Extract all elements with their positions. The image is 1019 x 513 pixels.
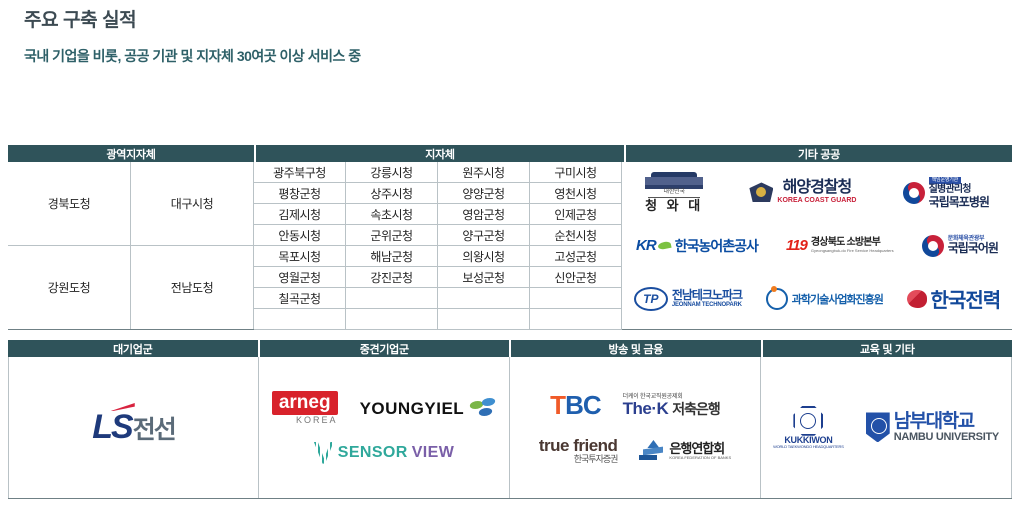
coast-guard-sublabel: KOREA COAST GUARD	[777, 197, 856, 204]
public-sector-table-header: 광역지자체 지자체 기타 공공	[8, 145, 1012, 162]
municipality-cell: 속초시청	[346, 204, 438, 225]
municipality-cell: 영천시청	[530, 183, 622, 204]
true-friend-logo: true friend 한국투자증권	[539, 437, 618, 464]
municipality-cell	[254, 309, 346, 330]
municipality-cell: 양구군청	[438, 225, 530, 246]
blue-house-roof-icon	[645, 172, 703, 185]
arneg-korea-logo: arneg KOREA	[272, 391, 338, 425]
municipality-cell: 안동시청	[254, 225, 346, 246]
logo-row: arneg KOREA YOUNGYIEL	[272, 391, 496, 425]
municipality-cell	[346, 288, 438, 309]
ls-cable-logo: LS 전선	[92, 408, 174, 447]
municipality-cell	[346, 309, 438, 330]
page-subtitle: 국내 기업을 비롯, 공공 기관 및 지자체 30여곳 이상 서비스 중	[24, 46, 361, 66]
coast-guard-label: 해양경찰청	[783, 180, 852, 197]
kepco-logo: 한국전력	[907, 284, 1001, 313]
jeonnam-tp-sublabel: JEONNAM TECHNOPARK	[672, 302, 742, 308]
logo-row: KR 한국농어촌공사 119 경상북도 소방본부 Gyeongsangbuk-d…	[622, 219, 1012, 272]
nambu-shield-icon	[866, 412, 890, 442]
logo-row: TBC 더케이 한국교직원공제회 The·K 저축은행	[550, 390, 720, 421]
municipality-cell: 상주시청	[346, 183, 438, 204]
fire-hq-sublabel: Gyeongsangbuk-do Fire Service Headquarte…	[811, 249, 894, 253]
cheongwadae-label: 청 와 대	[645, 199, 703, 213]
municipality-cell: 군위군청	[346, 225, 438, 246]
municipality-cell: 칠곡군청	[254, 288, 346, 309]
municipality-cell: 구미시청	[530, 162, 622, 183]
ls-cable-label: 전선	[133, 410, 175, 446]
municipality-cell: 강릉시청	[346, 162, 438, 183]
page-heading: 주요 구축 실적 국내 기업을 비롯, 공공 기관 및 지자체 30여곳 이상 …	[24, 8, 361, 66]
rural-corp-label: 한국농어촌공사	[675, 236, 758, 256]
municipality-cell: 광주북구청	[254, 162, 346, 183]
municipality-cell: 김제시청	[254, 204, 346, 225]
korea-coast-guard-logo: 해양경찰청 KOREA COAST GUARD	[749, 180, 856, 204]
kfb-mark-icon	[639, 440, 665, 462]
cheongwadae-logo: 대한민국 청 와 대	[645, 172, 703, 213]
youngyiel-label: YOUNGYIEL	[360, 399, 465, 419]
table-row: 강원도청 전남도청	[8, 246, 254, 330]
taegeuk-icon	[922, 235, 944, 257]
header-municipalities: 지자체	[254, 145, 624, 162]
performance-record-page: 주요 구축 실적 국내 기업을 비롯, 공공 기관 및 지자체 30여곳 이상 …	[0, 0, 1019, 513]
youngyiel-logo: YOUNGYIEL	[360, 398, 497, 420]
gyeongbuk-fire-headquarters-logo: 119 경상북도 소방본부 Gyeongsangbuk-do Fire Serv…	[786, 237, 894, 254]
korean-language-institute-label: 국립국어원	[948, 242, 998, 255]
education-other-cell: KUKKIWON WORLD TAEKWONDO HEADQUARTERS 남부…	[761, 357, 1012, 498]
the-k-sublabel: 저축은행	[672, 402, 720, 417]
logo-row: KUKKIWON WORLD TAEKWONDO HEADQUARTERS 남부…	[773, 406, 999, 450]
header-large-enterprises: 대기업군	[8, 340, 258, 357]
kr-mark-icon: KR	[636, 237, 656, 254]
tp-mark-icon: TP	[634, 287, 668, 311]
tbc-logo: TBC	[550, 390, 600, 421]
page-title: 주요 구축 실적	[24, 8, 361, 34]
true-friend-sublabel: 한국투자증권	[574, 455, 618, 464]
corporate-table-body: LS 전선 arneg KOREA YOUNGYIEL	[8, 357, 1012, 499]
broadcast-finance-cell: TBC 더케이 한국교직원공제회 The·K 저축은행 true friend …	[510, 357, 761, 498]
midsize-enterprises-cell: arneg KOREA YOUNGYIEL SENSOR VIEW	[259, 357, 510, 498]
corporate-table: 대기업군 중견기업군 방송 및 금융 교육 및 기타 LS 전선 arneg K…	[8, 340, 1012, 500]
municipalities-grid: 광주북구청 강릉시청 원주시청 구미시청 평창군청 상주시청 양양군청 영천시청…	[254, 162, 622, 329]
cheongwadae-sublabel: 대한민국	[664, 189, 685, 195]
municipality-cell: 목포시청	[254, 246, 346, 267]
youngyiel-diamonds-icon	[470, 398, 496, 420]
sensorview-label: SENSOR	[338, 444, 408, 462]
kiat-logo: 과학기술사업화진흥원	[766, 288, 883, 310]
kukkiwon-seal-icon	[793, 406, 823, 436]
header-other-public: 기타 공공	[624, 145, 1012, 162]
arneg-sublabel: KOREA	[296, 416, 338, 425]
municipality-cell: 해남군청	[346, 246, 438, 267]
public-sector-table-body: 경북도청 대구시청 강원도청 전남도청 광주북구청 강릉시청 원주시청 구미시청…	[8, 162, 1012, 330]
municipality-cell: 양양군청	[438, 183, 530, 204]
nambu-sublabel: NAMBU UNIVERSITY	[894, 432, 999, 444]
kepco-swirl-icon	[907, 290, 927, 308]
corporate-table-header: 대기업군 중견기업군 방송 및 금융 교육 및 기타	[8, 340, 1012, 357]
ls-mark: LS	[92, 408, 131, 447]
kfb-label: 은행연합회	[669, 442, 724, 456]
national-institute-korean-language-logo: 문화체육관광부 국립국어원	[922, 235, 998, 257]
municipality-cell: 영월군청	[254, 267, 346, 288]
province-cell: 전남도청	[131, 246, 254, 330]
jeonnam-tp-label: 전남테크노파크	[672, 289, 742, 302]
sensorview-sublabel: VIEW	[412, 444, 455, 462]
province-cell: 경북도청	[8, 162, 131, 246]
jeonnam-technopark-logo: TP 전남테크노파크 JEONNAM TECHNOPARK	[634, 287, 742, 311]
korea-federation-of-banks-logo: 은행연합회 KOREA FEDERATION OF BANKS	[639, 440, 731, 462]
kdca-label: 질병관리청	[929, 185, 971, 196]
large-enterprises-cell: LS 전선	[8, 357, 259, 498]
arneg-label: arneg	[272, 391, 338, 415]
kiat-circle-icon	[766, 288, 788, 310]
public-sector-table: 광역지자체 지자체 기타 공공 경북도청 대구시청 강원도청 전남도청 광주북구…	[8, 145, 1012, 331]
kdca-badge: 책임운영기관	[929, 177, 961, 184]
kiat-label: 과학기술사업화진흥원	[792, 291, 883, 307]
sensorview-logo: SENSOR VIEW	[314, 442, 454, 464]
true-friend-label: true friend	[539, 437, 618, 455]
taegeuk-icon	[903, 182, 925, 204]
header-broadcast-finance: 방송 및 금융	[509, 340, 761, 357]
header-education-other: 교육 및 기타	[761, 340, 1013, 357]
sensorview-v-icon	[314, 442, 334, 464]
table-row: 경북도청 대구시청	[8, 162, 254, 246]
municipality-cell: 의왕시청	[438, 246, 530, 267]
logo-row: true friend 한국투자증권 은행연합회 KOREA FEDERATIO…	[539, 437, 731, 464]
korea-rural-community-corp-logo: KR 한국농어촌공사	[636, 236, 758, 256]
municipality-cell	[438, 288, 530, 309]
province-cell: 대구시청	[131, 162, 254, 246]
logo-row: 대한민국 청 와 대 해양경찰청 KOREA COAST GUARD	[622, 166, 1012, 219]
provinces-column: 경북도청 대구시청 강원도청 전남도청	[8, 162, 254, 329]
kfb-sublabel: KOREA FEDERATION OF BANKS	[669, 456, 731, 460]
municipality-cell: 평창군청	[254, 183, 346, 204]
nambu-university-logo: 남부대학교 NAMBU UNIVERSITY	[866, 412, 999, 443]
municipality-cell: 순천시청	[530, 225, 622, 246]
header-provinces: 광역지자체	[8, 145, 254, 162]
municipality-cell: 영암군청	[438, 204, 530, 225]
119-mark-icon: 119	[786, 237, 807, 254]
kukkiwon-sublabel: WORLD TAEKWONDO HEADQUARTERS	[773, 445, 844, 449]
logo-row: SENSOR VIEW	[314, 442, 454, 464]
province-cell: 강원도청	[8, 246, 131, 330]
header-midsize-enterprises: 중견기업군	[258, 340, 510, 357]
the-k-savings-bank-logo: 더케이 한국교직원공제회 The·K 저축은행	[623, 394, 720, 418]
municipality-cell	[438, 309, 530, 330]
municipality-cell: 고성군청	[530, 246, 622, 267]
municipality-cell	[530, 309, 622, 330]
kr-swoosh-icon	[657, 241, 671, 251]
nambu-label: 남부대학교	[894, 412, 974, 432]
municipality-cell: 강진군청	[346, 267, 438, 288]
municipality-cell: 신안군청	[530, 267, 622, 288]
logo-row: TP 전남테크노파크 JEONNAM TECHNOPARK 과학기술사업화진흥원	[622, 272, 1012, 325]
municipality-cell: 원주시청	[438, 162, 530, 183]
kepco-label: 한국전력	[931, 284, 1001, 313]
municipality-cell: 인제군청	[530, 204, 622, 225]
municipality-cell	[530, 288, 622, 309]
municipality-cell: 보성군청	[438, 267, 530, 288]
kukkiwon-logo: KUKKIWON WORLD TAEKWONDO HEADQUARTERS	[773, 406, 844, 450]
mokpo-hospital-label: 국립목포병원	[929, 196, 989, 209]
the-k-label: The·K	[623, 400, 669, 418]
kdca-mokpo-hospital-logo: 책임운영기관 질병관리청 국립목포병원	[903, 177, 989, 208]
coast-guard-emblem-icon	[749, 182, 773, 202]
other-public-logos: 대한민국 청 와 대 해양경찰청 KOREA COAST GUARD	[622, 162, 1012, 329]
